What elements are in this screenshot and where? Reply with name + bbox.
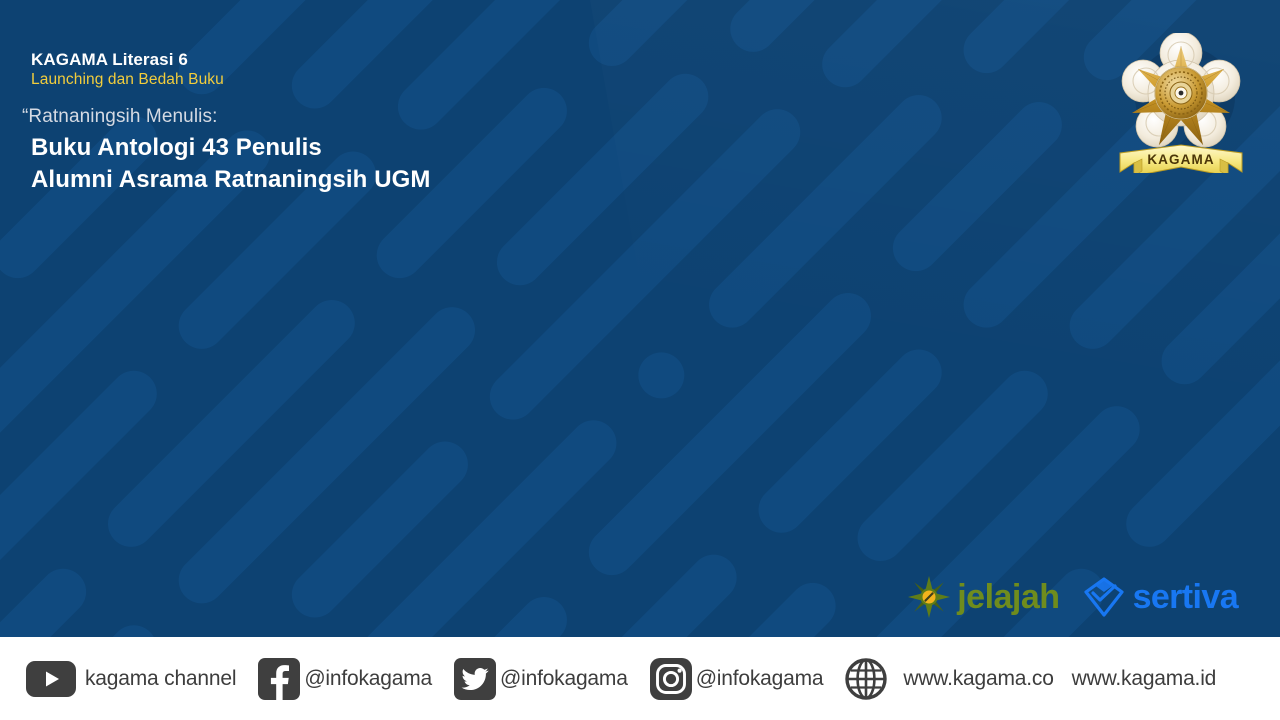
slide-stage: KAGAMA Literasi 6 Launching dan Bedah Bu… — [0, 0, 1280, 637]
quote-line: “Ratnaningsih Menulis: — [22, 106, 431, 128]
compass-icon — [907, 575, 951, 619]
footer-item-facebook[interactable]: @infokagama — [258, 658, 432, 700]
sponsor-jelajah: jelajah — [907, 575, 1059, 619]
twitter-icon[interactable] — [454, 658, 496, 700]
event-kicker: KAGAMA Literasi 6 — [31, 50, 431, 70]
footer-item-website[interactable]: www.kagama.co www.kagama.id — [845, 658, 1216, 700]
facebook-icon[interactable] — [258, 658, 300, 700]
sponsor-logo-row: jelajah sertiva — [907, 575, 1238, 619]
jelajah-wordmark: jelajah — [957, 580, 1059, 614]
footer-label-website-id: www.kagama.id — [1072, 667, 1216, 691]
youtube-icon[interactable] — [26, 661, 76, 697]
emblem-ribbon-label: KAGAMA — [1147, 152, 1214, 167]
sponsor-sertiva: sertiva — [1082, 575, 1238, 619]
kagama-emblem-svg: KAGAMA — [1112, 33, 1252, 173]
globe-icon[interactable] — [845, 658, 887, 700]
footer-item-twitter[interactable]: @infokagama — [454, 658, 628, 700]
jelajah-label: jelajah — [957, 578, 1059, 616]
footer-label-website-co: www.kagama.co — [903, 667, 1053, 691]
footer-label-facebook: @infokagama — [304, 667, 432, 691]
headline-block: KAGAMA Literasi 6 Launching dan Bedah Bu… — [22, 50, 431, 196]
diamond-check-icon — [1082, 575, 1126, 619]
sertiva-wordmark: sertiva — [1133, 580, 1238, 614]
emblem-ribbon: KAGAMA — [1120, 145, 1242, 173]
book-title-line-1: Buku Antologi 43 Penulis — [31, 132, 431, 164]
footer-item-instagram[interactable]: @infokagama — [650, 658, 824, 700]
presentation-slide: KAGAMA Literasi 6 Launching dan Bedah Bu… — [0, 0, 1280, 720]
footer-label-instagram: @infokagama — [696, 667, 824, 691]
footer-label-twitter: @infokagama — [500, 667, 628, 691]
footer-label-youtube: kagama channel — [85, 667, 236, 691]
event-subkicker: Launching dan Bedah Buku — [31, 71, 431, 89]
instagram-icon[interactable] — [650, 658, 692, 700]
contact-footer-bar: kagama channel @infokagama @infokagama — [0, 637, 1280, 720]
book-title-line-2: Alumni Asrama Ratnaningsih UGM — [31, 164, 431, 196]
kagama-ugm-emblem: KAGAMA — [1112, 33, 1252, 173]
footer-item-youtube[interactable]: kagama channel — [26, 661, 236, 697]
